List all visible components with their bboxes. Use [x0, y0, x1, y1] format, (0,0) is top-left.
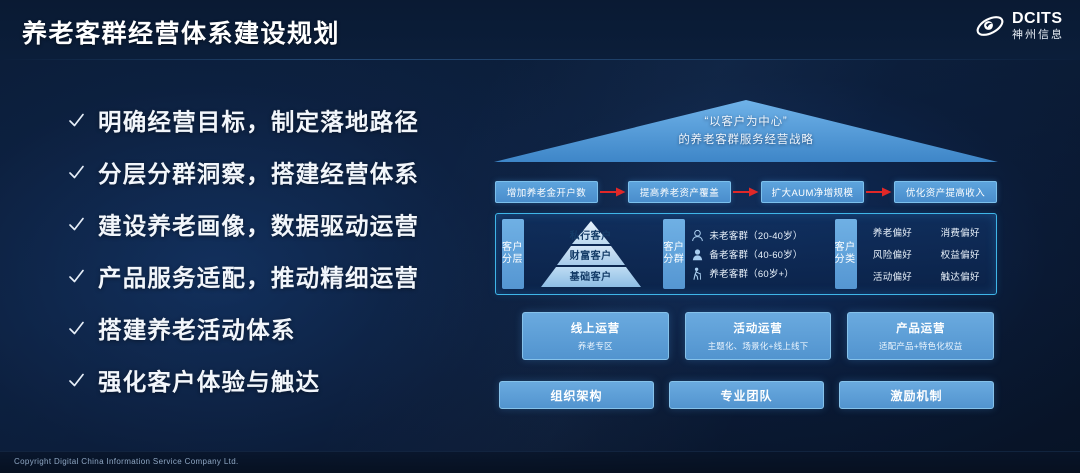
foundation-card[interactable]: 专业团队	[669, 381, 824, 409]
customer-group-list: 未老客群（20-40岁） 备老客群（40-60岁）	[685, 228, 828, 280]
customer-layer-section: 客户分层	[496, 214, 657, 294]
operations-title: 活动运营	[733, 320, 782, 336]
customer-group-tab: 客户分群	[663, 219, 685, 289]
preference-cell: 养老偏好	[863, 225, 923, 239]
check-mark-icon	[68, 372, 85, 389]
slide-header: 养老客群经营体系建设规划 DCITS 神州信息	[0, 0, 1080, 60]
preference-cell: 消费偏好	[930, 225, 990, 239]
foundation-card[interactable]: 组织架构	[499, 381, 654, 409]
list-item: 分层分群洞察，搭建经营体系	[68, 155, 419, 189]
copyright-label: Copyright Digital China Information Serv…	[14, 457, 239, 466]
preference-cell: 活动偏好	[863, 269, 923, 283]
operations-card[interactable]: 产品运营 适配产品+特色化权益	[847, 312, 994, 360]
list-item: 养老客群（60岁+）	[691, 266, 828, 280]
customer-core-panel: 客户分层	[495, 213, 997, 295]
list-item: 搭建养老活动体系	[68, 311, 419, 345]
goal-box[interactable]: 扩大AUM净增规模	[761, 181, 864, 203]
operations-subtitle: 适配产品+特色化权益	[879, 340, 962, 352]
slide-footer: Copyright Digital China Information Serv…	[0, 451, 1080, 473]
customer-classify-section: 客户分类 养老偏好 消费偏好 风险偏好 权益偏好 活动偏好 触达偏好	[829, 214, 996, 294]
pyramid-level-label: 财富客户	[529, 247, 653, 262]
bullet-label: 强化客户体验与触达	[98, 363, 320, 397]
bullet-label: 搭建养老活动体系	[98, 311, 296, 345]
logo-cn-label: 神州信息	[1012, 30, 1064, 41]
bullet-label: 分层分群洞察，搭建经营体系	[98, 155, 419, 189]
goal-box[interactable]: 增加养老金开户数	[495, 181, 598, 203]
logo-en-label: DCITS	[1012, 11, 1064, 27]
preference-grid: 养老偏好 消费偏好 风险偏好 权益偏好 活动偏好 触达偏好	[857, 225, 996, 283]
adult-person-icon	[691, 248, 704, 261]
operations-title: 产品运营	[896, 320, 945, 336]
customer-classify-body: 养老偏好 消费偏好 风险偏好 权益偏好 活动偏好 触达偏好	[857, 214, 996, 294]
roof-strategy-label: “以客户为中心” 的养老客群服务经营战略	[492, 114, 1000, 150]
slide-root: 养老客群经营体系建设规划 DCITS 神州信息 明	[0, 0, 1080, 473]
operations-card[interactable]: 活动运营 主题化、场景化+线上线下	[685, 312, 832, 360]
group-label: 未老客群（20-40岁）	[709, 228, 802, 242]
roof-line-1: “以客户为中心”	[492, 114, 1000, 132]
dcits-swirl-logo-icon	[975, 13, 1005, 39]
roof-line-2: 的养老客群服务经营战略	[492, 132, 1000, 150]
customer-layer-tab: 客户分层	[502, 219, 524, 289]
list-item: 建设养老画像，数据驱动运营	[68, 207, 419, 241]
group-label: 备老客群（40-60岁）	[709, 247, 802, 261]
red-right-arrow-icon	[598, 186, 628, 198]
check-mark-icon	[68, 268, 85, 285]
customer-group-section: 客户分群 未老客群（20-40岁）	[657, 214, 828, 294]
foundation-card[interactable]: 激励机制	[839, 381, 994, 409]
bullet-list: 明确经营目标，制定落地路径 分层分群洞察，搭建经营体系 建设养老画像，数据驱动运…	[68, 103, 419, 397]
preference-cell: 触达偏好	[930, 269, 990, 283]
list-item: 备老客群（40-60岁）	[691, 247, 828, 261]
red-right-arrow-icon	[864, 186, 894, 198]
customer-layer-body: 私行客户 财富客户 基础客户	[524, 214, 657, 294]
foundation-row: 组织架构 专业团队 激励机制	[499, 381, 994, 409]
check-mark-icon	[68, 164, 85, 181]
goal-box[interactable]: 提高养老资产覆盖	[628, 181, 731, 203]
list-item: 明确经营目标，制定落地路径	[68, 103, 419, 137]
operations-row: 线上运营 养老专区 活动运营 主题化、场景化+线上线下 产品运营 适配产品+特色…	[522, 312, 994, 360]
pyramid-level-label: 基础客户	[529, 268, 653, 283]
strategy-roof: “以客户为中心” 的养老客群服务经营战略	[492, 96, 1000, 166]
group-label: 养老客群（60岁+）	[709, 266, 794, 280]
logo-text: DCITS 神州信息	[1012, 11, 1064, 41]
goal-box[interactable]: 优化资产提高收入	[894, 181, 997, 203]
bullet-label: 建设养老画像，数据驱动运营	[98, 207, 419, 241]
bullet-label: 产品服务适配，推动精细运营	[98, 259, 419, 293]
brand-logo: DCITS 神州信息	[975, 11, 1064, 41]
customer-group-body: 未老客群（20-40岁） 备老客群（40-60岁）	[685, 214, 828, 294]
operations-subtitle: 养老专区	[578, 340, 613, 352]
red-right-arrow-icon	[731, 186, 761, 198]
list-item: 产品服务适配，推动精细运营	[68, 259, 419, 293]
list-item: 未老客群（20-40岁）	[691, 228, 828, 242]
pyramid-level-label: 私行客户	[529, 227, 653, 242]
goal-flow-row: 增加养老金开户数 提高养老资产覆盖 扩大AUM净增规模 优化资产提高收入	[495, 181, 997, 203]
elderly-cane-icon	[691, 267, 704, 280]
header-divider	[0, 59, 1080, 60]
customer-pyramid: 私行客户 财富客户 基础客户	[529, 220, 653, 288]
operations-title: 线上运营	[571, 320, 620, 336]
page-title: 养老客群经营体系建设规划	[22, 14, 340, 50]
young-person-icon	[691, 229, 704, 242]
operations-subtitle: 主题化、场景化+线上线下	[708, 340, 809, 352]
operations-card[interactable]: 线上运营 养老专区	[522, 312, 669, 360]
bullet-label: 明确经营目标，制定落地路径	[98, 103, 419, 137]
strategy-diagram: “以客户为中心” 的养老客群服务经营战略 增加养老金开户数 提高养老资产覆盖 扩…	[492, 96, 1000, 426]
preference-cell: 权益偏好	[930, 247, 990, 261]
check-mark-icon	[68, 320, 85, 337]
check-mark-icon	[68, 112, 85, 129]
check-mark-icon	[68, 216, 85, 233]
preference-cell: 风险偏好	[863, 247, 923, 261]
list-item: 强化客户体验与触达	[68, 363, 419, 397]
customer-classify-tab: 客户分类	[835, 219, 857, 289]
